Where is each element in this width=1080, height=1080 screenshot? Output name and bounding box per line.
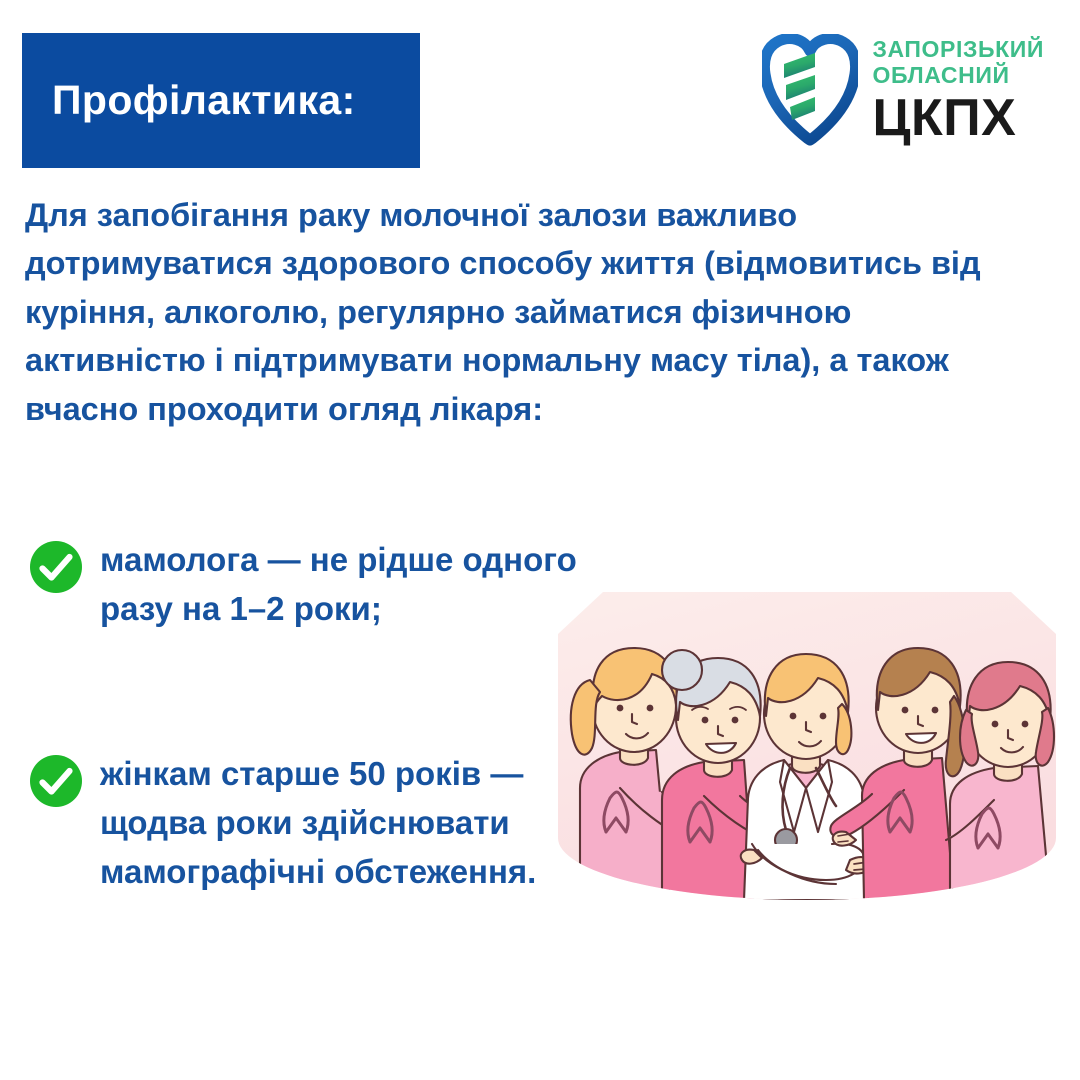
list-item: мамолога — не рідше одного разу на 1–2 р… [29,536,649,634]
list-item-text: жінкам старше 50 років — щодва роки здій… [100,750,536,896]
illustration-svg [558,592,1056,900]
body-paragraph: Для запобігання раку молочної залози важ… [25,191,1043,433]
logo-wordmark: ЗАПОРІЗЬКИЙ ОБЛАСНИЙ ЦКПХ [872,36,1044,145]
logo-subtitle-line-2: ОБЛАСНИЙ [872,62,1044,88]
poster-canvas: Профілактика: [0,0,1080,1080]
body-line-1: Для запобігання раку молочної залози важ… [25,191,1043,239]
bullet-1-line-1: мамолога — не рідше одного [100,536,577,585]
logo-acronym: ЦКПХ [872,92,1044,144]
bullet-2-line-1: жінкам старше 50 років — [100,750,536,799]
organization-logo: ЗАПОРІЗЬКИЙ ОБЛАСНИЙ ЦКПХ [762,34,1044,146]
shield-heart-logo-icon [762,34,858,146]
list-item: жінкам старше 50 років — щодва роки здій… [29,750,589,896]
logo-subtitle-line-1: ЗАПОРІЗЬКИЙ [872,36,1044,62]
check-circle-icon [29,754,83,808]
body-line-4: активністю і підтримувати нормальну масу… [25,336,1043,384]
page-title: Профілактика: [52,78,356,123]
check-circle-icon [29,540,83,594]
illustration-five-women [558,592,1056,900]
body-line-3: куріння, алкоголю, регулярно займатися ф… [25,288,1043,336]
bullet-2-line-3: мамографічні обстеження. [100,848,536,897]
body-line-2: дотримуватися здорового способу життя (в… [25,239,1043,287]
body-line-5: вчасно проходити огляд лікаря: [25,385,1043,433]
bullet-1-line-2: разу на 1–2 роки; [100,585,577,634]
list-item-text: мамолога — не рідше одного разу на 1–2 р… [100,536,577,634]
bullet-2-line-2: щодва роки здійснювати [100,799,536,848]
section-title-box: Профілактика: [22,33,420,168]
